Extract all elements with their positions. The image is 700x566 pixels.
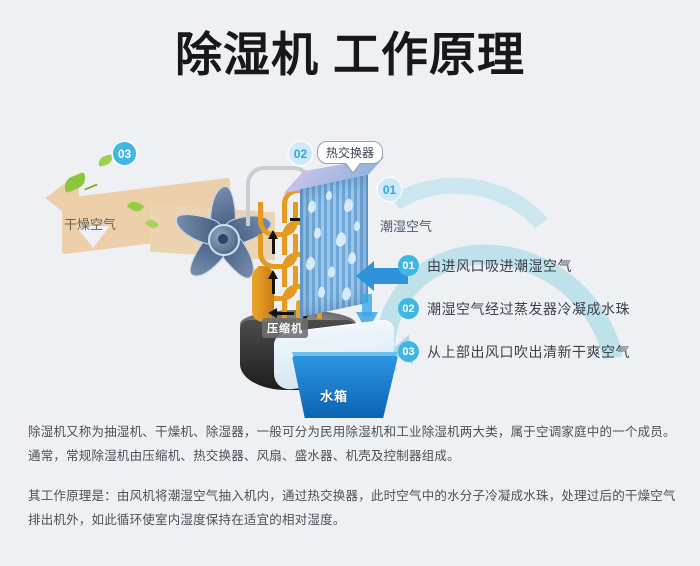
leaf-stem-icon: [84, 183, 98, 190]
legend-item-02: 02 潮湿空气经过蒸发器冷凝成水珠: [398, 298, 688, 319]
description-paragraph-2: 其工作原理是：由风机将潮湿空气抽入机内，通过热交换器，此时空气中的水分子冷凝成水…: [28, 484, 678, 532]
compressor-label: 压缩机: [262, 318, 308, 338]
description-block: 除湿机又称为抽湿机、干燥机、除湿器，一般可分为民用除湿机和工业除湿机两大类，属于…: [28, 420, 678, 532]
dry-air-label: 干燥空气: [64, 214, 116, 233]
legend-badge-02: 02: [398, 298, 419, 319]
legend-badge-03: 03: [398, 341, 419, 362]
legend-text-03: 从上部出风口吹出清新干爽空气: [427, 342, 630, 362]
legend-item-03: 03 从上部出风口吹出清新干爽空气: [398, 341, 688, 362]
badge-03: 03: [113, 142, 136, 165]
legend-text-02: 潮湿空气经过蒸发器冷凝成水珠: [427, 299, 630, 319]
legend-badge-01: 01: [398, 255, 419, 276]
badge-02: 02: [289, 142, 312, 165]
heat-exchanger-callout: 热交换器: [317, 141, 383, 164]
page-title-part2: 工作原理: [333, 28, 525, 81]
dehumidifier-unit: 水箱 压缩机: [248, 160, 388, 390]
moist-air-label: 潮湿空气: [380, 216, 432, 235]
water-tank-label: 水箱: [320, 386, 348, 405]
legend-text-01: 由进风口吸进潮湿空气: [427, 256, 572, 276]
page-title: 除湿机工作原理: [0, 28, 700, 82]
leaf-icon: [97, 154, 114, 167]
evaporator-fins: [300, 175, 368, 317]
page-title-part1: 除湿机: [175, 28, 319, 81]
badge-01: 01: [378, 178, 401, 201]
description-paragraph-1: 除湿机又称为抽湿机、干燥机、除湿器，一般可分为民用除湿机和工业除湿机两大类，属于…: [28, 420, 678, 468]
steps-legend: 01 由进风口吸进潮湿空气 02 潮湿空气经过蒸发器冷凝成水珠 03 从上部出风…: [398, 255, 688, 384]
legend-item-01: 01 由进风口吸进潮湿空气: [398, 255, 688, 276]
